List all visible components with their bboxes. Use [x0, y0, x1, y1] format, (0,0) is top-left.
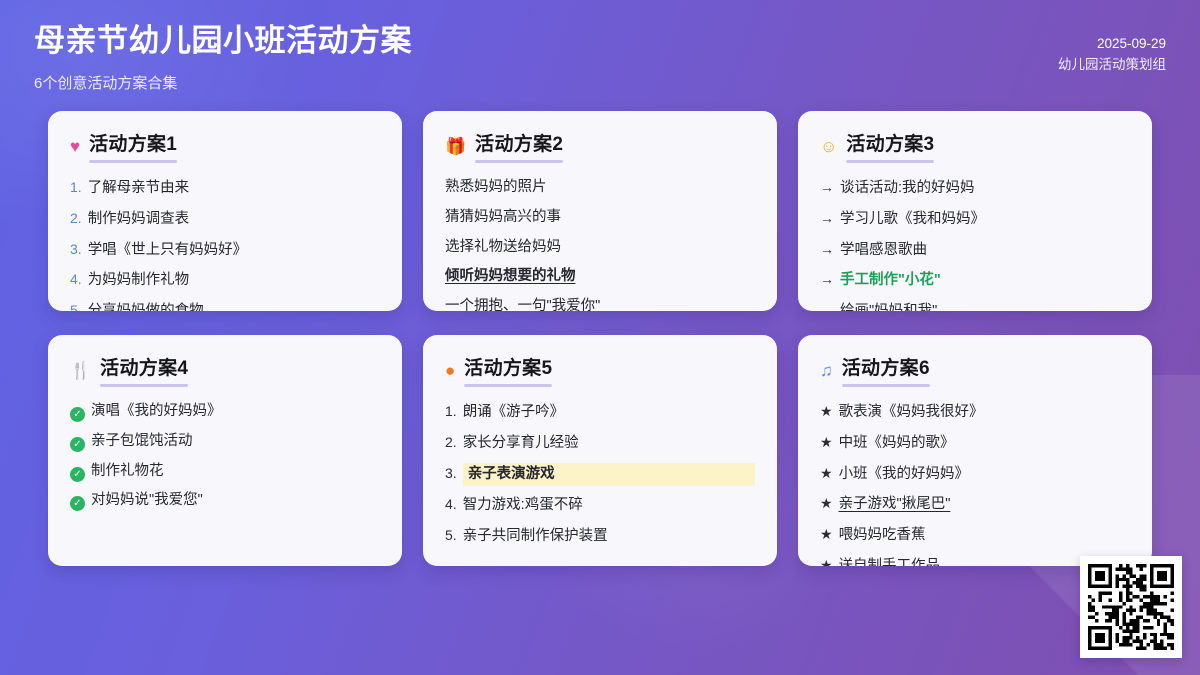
list-item: →学习儿歌《我和妈妈》 — [820, 204, 1130, 235]
list-item-text: 选择礼物送给妈妈 — [445, 237, 755, 259]
list-item-text: 演唱《我的好妈妈》 — [91, 401, 380, 423]
list-item-text: 熟悉妈妈的照片 — [445, 177, 755, 199]
page-title: 母亲节幼儿园小班活动方案 — [34, 22, 412, 61]
list-item-bullet: ★ — [820, 524, 833, 545]
list-item-text: 朗诵《游子吟》 — [463, 402, 755, 424]
list-item: →谈话活动:我的好妈妈 — [820, 173, 1130, 204]
list-item: ✓对妈妈说"我爱您" — [70, 486, 380, 516]
header-date: 2025-09-29 — [1058, 34, 1166, 55]
card-item-list: →谈话活动:我的好妈妈→学习儿歌《我和妈妈》→学唱感恩歌曲→手工制作"小花"→绘… — [820, 173, 1130, 311]
list-item-text: 学唱《世上只有妈妈好》 — [88, 240, 380, 262]
header-left: 母亲节幼儿园小班活动方案 6个创意活动方案合集 — [34, 22, 412, 93]
card-header: ♥活动方案1 — [70, 129, 380, 163]
list-item-bullet: ✓ — [70, 407, 85, 422]
list-item: 选择礼物送给妈妈 — [445, 233, 755, 263]
list-item-text: 制作礼物花 — [91, 461, 380, 483]
list-item: ✓制作礼物花 — [70, 457, 380, 487]
list-item: →手工制作"小花" — [820, 265, 1130, 296]
card-title: 活动方案1 — [89, 129, 177, 163]
list-item-text: 中班《妈妈的歌》 — [839, 433, 1130, 455]
list-item-bullet: ✓ — [70, 437, 85, 452]
list-item: 5.分享妈妈做的食物 — [70, 296, 380, 311]
card-header: 🍴活动方案4 — [70, 353, 380, 387]
list-item-bullet: 5. — [70, 300, 82, 311]
list-item: ★喂妈妈吃香蕉 — [820, 520, 1130, 551]
list-item-text: 喂妈妈吃香蕉 — [839, 525, 1130, 547]
activity-card: ☺活动方案3→谈话活动:我的好妈妈→学习儿歌《我和妈妈》→学唱感恩歌曲→手工制作… — [798, 111, 1152, 311]
list-item-bullet: 5. — [445, 525, 457, 546]
fork-knife-icon: 🍴 — [70, 362, 91, 379]
list-item-bullet: 1. — [70, 177, 82, 198]
list-item-text: 了解母亲节由来 — [88, 178, 380, 200]
list-item-bullet: 3. — [70, 239, 82, 260]
card-title: 活动方案3 — [846, 129, 934, 163]
list-item-bullet: ✓ — [70, 496, 85, 511]
list-item: ✓亲子包馄饨活动 — [70, 427, 380, 457]
list-item-bullet: ✓ — [70, 467, 85, 482]
list-item-text: 家长分享育儿经验 — [463, 433, 755, 455]
list-item-text: 猜猜妈妈高兴的事 — [445, 207, 755, 229]
list-item: 1.了解母亲节由来 — [70, 173, 380, 204]
card-header: ☺活动方案3 — [820, 129, 1130, 163]
list-item: 熟悉妈妈的照片 — [445, 173, 755, 203]
list-item: →学唱感恩歌曲 — [820, 235, 1130, 266]
smiley-icon: ☺ — [820, 138, 837, 155]
list-item: 一个拥抱、一句"我爱你" — [445, 292, 755, 311]
list-item-bullet: 2. — [70, 208, 82, 229]
card-item-list: 1.了解母亲节由来2.制作妈妈调查表3.学唱《世上只有妈妈好》4.为妈妈制作礼物… — [70, 173, 380, 311]
list-item: 4.为妈妈制作礼物 — [70, 265, 380, 296]
list-item-bullet: 4. — [70, 269, 82, 290]
list-item-bullet: → — [820, 269, 834, 290]
list-item: 4.智力游戏:鸡蛋不碎 — [445, 490, 755, 521]
list-item-text: 谈话活动:我的好妈妈 — [840, 178, 1130, 200]
card-title: 活动方案4 — [100, 353, 188, 387]
card-item-list: 熟悉妈妈的照片猜猜妈妈高兴的事选择礼物送给妈妈倾听妈妈想要的礼物一个拥抱、一句"… — [445, 173, 755, 311]
list-item-text: 对妈妈说"我爱您" — [91, 490, 380, 512]
list-item-bullet: → — [820, 239, 834, 260]
list-item-text: 为妈妈制作礼物 — [88, 270, 380, 292]
card-item-list: ★歌表演《妈妈我很好》★中班《妈妈的歌》★小班《我的好妈妈》★亲子游戏"揪尾巴"… — [820, 397, 1130, 566]
list-item: →绘画"妈妈和我" — [820, 296, 1130, 311]
list-item: 倾听妈妈想要的礼物 — [445, 262, 755, 292]
list-item-bullet: ★ — [820, 432, 833, 453]
list-item-text: 学习儿歌《我和妈妈》 — [840, 209, 1130, 231]
card-header: 🎁活动方案2 — [445, 129, 755, 163]
list-item-text: 手工制作"小花" — [840, 270, 1130, 292]
card-title: 活动方案6 — [842, 353, 930, 387]
activity-card: ♥活动方案11.了解母亲节由来2.制作妈妈调查表3.学唱《世上只有妈妈好》4.为… — [48, 111, 402, 311]
list-item-bullet: 3. — [445, 463, 457, 484]
list-item-text: 亲子游戏"揪尾巴" — [839, 494, 1130, 516]
qr-code[interactable] — [1080, 556, 1182, 658]
cards-grid: ♥活动方案11.了解母亲节由来2.制作妈妈调查表3.学唱《世上只有妈妈好》4.为… — [48, 111, 1152, 566]
list-item: ★亲子游戏"揪尾巴" — [820, 489, 1130, 520]
list-item-text: 亲子包馄饨活动 — [91, 431, 380, 453]
list-item-text: 学唱感恩歌曲 — [840, 240, 1130, 262]
list-item-text: 绘画"妈妈和我" — [840, 301, 1130, 311]
slide-header: 母亲节幼儿园小班活动方案 6个创意活动方案合集 2025-09-29 幼儿园活动… — [0, 0, 1200, 103]
list-item: 1.朗诵《游子吟》 — [445, 397, 755, 428]
list-item-bullet: 1. — [445, 401, 457, 422]
list-item-text: 分享妈妈做的食物 — [88, 301, 380, 311]
card-header: ●活动方案5 — [445, 353, 755, 387]
list-item-bullet: ★ — [820, 401, 833, 422]
list-item: 3.学唱《世上只有妈妈好》 — [70, 235, 380, 266]
qr-code-image — [1088, 564, 1174, 650]
list-item: 5.亲子共同制作保护装置 — [445, 521, 755, 552]
header-organization: 幼儿园活动策划组 — [1058, 55, 1166, 76]
card-item-list: ✓演唱《我的好妈妈》✓亲子包馄饨活动✓制作礼物花✓对妈妈说"我爱您" — [70, 397, 380, 516]
list-item-text: 小班《我的好妈妈》 — [839, 464, 1130, 486]
list-item: ✓演唱《我的好妈妈》 — [70, 397, 380, 427]
list-item-bullet: → — [820, 300, 834, 311]
list-item: 2.家长分享育儿经验 — [445, 428, 755, 459]
heart-icon: ♥ — [70, 138, 80, 155]
list-item: ★中班《妈妈的歌》 — [820, 428, 1130, 459]
list-item: 猜猜妈妈高兴的事 — [445, 203, 755, 233]
list-item-text: 一个拥抱、一句"我爱你" — [445, 296, 755, 311]
list-item: ★歌表演《妈妈我很好》 — [820, 397, 1130, 428]
list-item-bullet: ★ — [820, 493, 833, 514]
list-item-text: 亲子表演游戏 — [463, 463, 755, 487]
egg-icon: ● — [445, 362, 455, 379]
page-subtitle: 6个创意活动方案合集 — [34, 72, 412, 93]
card-header: ♫活动方案6 — [820, 353, 1130, 387]
list-item: ★小班《我的好妈妈》 — [820, 459, 1130, 490]
list-item-bullet: → — [820, 177, 834, 198]
list-item-text: 亲子共同制作保护装置 — [463, 526, 755, 548]
music-note-icon: ♫ — [820, 362, 833, 379]
list-item-bullet: 2. — [445, 432, 457, 453]
header-right: 2025-09-29 幼儿园活动策划组 — [1058, 22, 1166, 76]
activity-card: 🍴活动方案4✓演唱《我的好妈妈》✓亲子包馄饨活动✓制作礼物花✓对妈妈说"我爱您" — [48, 335, 402, 566]
list-item-bullet: ★ — [820, 463, 833, 484]
list-item-text: 倾听妈妈想要的礼物 — [445, 266, 755, 288]
card-item-list: 1.朗诵《游子吟》2.家长分享育儿经验3.亲子表演游戏4.智力游戏:鸡蛋不碎5.… — [445, 397, 755, 552]
list-item: 2.制作妈妈调查表 — [70, 204, 380, 235]
list-item: 3.亲子表演游戏 — [445, 459, 755, 491]
card-title: 活动方案2 — [475, 129, 563, 163]
slide-canvas: 母亲节幼儿园小班活动方案 6个创意活动方案合集 2025-09-29 幼儿园活动… — [0, 0, 1200, 675]
list-item-bullet: → — [820, 208, 834, 229]
activity-card: 🎁活动方案2熟悉妈妈的照片猜猜妈妈高兴的事选择礼物送给妈妈倾听妈妈想要的礼物一个… — [423, 111, 777, 311]
list-item-bullet: 4. — [445, 494, 457, 515]
list-item-text: 歌表演《妈妈我很好》 — [839, 402, 1130, 424]
activity-card: ♫活动方案6★歌表演《妈妈我很好》★中班《妈妈的歌》★小班《我的好妈妈》★亲子游… — [798, 335, 1152, 566]
card-title: 活动方案5 — [464, 353, 552, 387]
list-item-bullet: ★ — [820, 555, 833, 566]
list-item-text: 制作妈妈调查表 — [88, 209, 380, 231]
list-item-text: 智力游戏:鸡蛋不碎 — [463, 495, 755, 517]
activity-card: ●活动方案51.朗诵《游子吟》2.家长分享育儿经验3.亲子表演游戏4.智力游戏:… — [423, 335, 777, 566]
gift-icon: 🎁 — [445, 138, 466, 155]
